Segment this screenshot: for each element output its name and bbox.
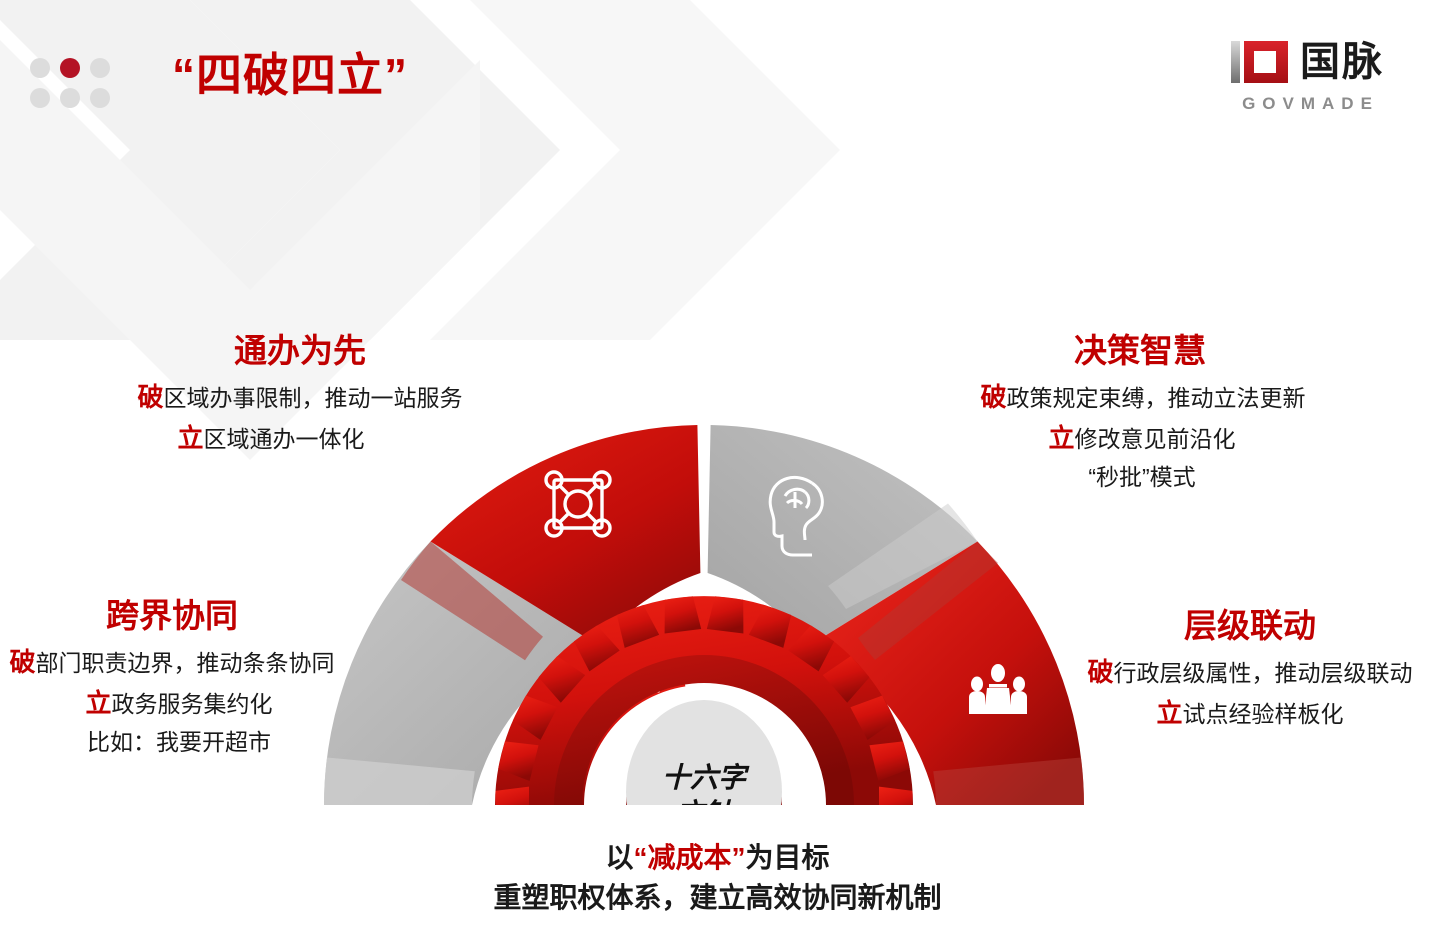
block-universal-service: 通办为先 破区域办事限制，推动一站服务 立区域通办一体化 xyxy=(0,330,600,459)
line-text: 政策规定束缚，推动立法更新 xyxy=(1007,385,1306,411)
dot xyxy=(60,88,80,108)
line-text: 政务服务集约化 xyxy=(112,691,273,717)
caption-suffix: 为目标 xyxy=(746,842,830,873)
caption-highlight: “减成本” xyxy=(633,842,745,873)
block-line: 破区域办事限制，推动一站服务 xyxy=(0,377,600,418)
block-smart-decision: 决策智慧 破政策规定束缚，推动立法更新 立修改意见前沿化 “秒批”模式 xyxy=(845,330,1435,496)
keyword-li: 立 xyxy=(1048,423,1074,453)
block-heading: 通办为先 xyxy=(0,330,600,371)
block-line: 立修改意见前沿化 xyxy=(845,418,1435,459)
line-text: 比如：我要开超市 xyxy=(87,729,271,755)
decorative-dot-grid xyxy=(30,58,108,110)
keyword-li: 立 xyxy=(1156,698,1182,728)
hub-line-1: 十六字 xyxy=(662,761,750,794)
dot xyxy=(90,58,110,78)
block-line: 破部门职责边界，推动条条协同 xyxy=(0,642,362,683)
line-text: 修改意见前沿化 xyxy=(1075,426,1236,452)
line-text: 区域办事限制，推动一站服务 xyxy=(164,385,463,411)
block-line: 立区域通办一体化 xyxy=(0,418,600,459)
block-line: 破政策规定束缚，推动立法更新 xyxy=(845,377,1435,418)
line-text: 行政层级属性，推动层级联动 xyxy=(1114,660,1413,686)
caption-prefix: 以 xyxy=(605,842,633,873)
logo-english-name: GOVMADE xyxy=(1207,94,1407,114)
keyword-po: 破 xyxy=(137,382,163,412)
block-line: 立政务服务集约化 xyxy=(0,683,362,724)
brand-logo: 国脉 GOVMADE xyxy=(1207,34,1407,114)
keyword-po: 破 xyxy=(1087,657,1113,687)
block-cross-border: 跨界协同 破部门职责边界，推动条条协同 立政务服务集约化 比如：我要开超市 xyxy=(0,595,362,761)
line-text: 试点经验样板化 xyxy=(1183,701,1344,727)
block-line: 立试点经验样板化 xyxy=(1060,693,1435,734)
line-text: 区域通办一体化 xyxy=(204,426,365,452)
page-title: “四破四立” xyxy=(172,52,408,98)
block-heading: 层级联动 xyxy=(1060,605,1435,646)
logo-mark-icon xyxy=(1230,39,1292,85)
keyword-li: 立 xyxy=(85,688,111,718)
dot xyxy=(90,88,110,108)
keyword-li: 立 xyxy=(177,423,203,453)
block-line: 破行政层级属性，推动层级联动 xyxy=(1060,652,1435,693)
slide-canvas: “四破四立” 国脉 GOVMADE xyxy=(0,0,1435,927)
dot-accent xyxy=(60,58,80,78)
block-heading: 决策智慧 xyxy=(845,330,1435,371)
keyword-po: 破 xyxy=(9,647,35,677)
block-line: “秒批”模式 xyxy=(845,459,1435,495)
logo-chinese-name: 国脉 xyxy=(1300,42,1384,82)
footer-caption: 以“减成本”为目标 重塑职权体系，建立高效协同新机制 xyxy=(0,838,1435,919)
dot xyxy=(30,88,50,108)
line-text: 部门职责边界，推动条条协同 xyxy=(36,650,335,676)
keyword-po: 破 xyxy=(980,382,1006,412)
line-text: “秒批”模式 xyxy=(1088,464,1195,490)
block-line: 比如：我要开超市 xyxy=(0,724,362,760)
block-heading: 跨界协同 xyxy=(0,595,362,636)
caption-line-2: 重塑职权体系，建立高效协同新机制 xyxy=(0,877,1435,919)
block-tier-linkage: 层级联动 破行政层级属性，推动层级联动 立试点经验样板化 xyxy=(1060,605,1435,734)
caption-line-1: 以“减成本”为目标 xyxy=(0,838,1435,877)
dot xyxy=(30,58,50,78)
